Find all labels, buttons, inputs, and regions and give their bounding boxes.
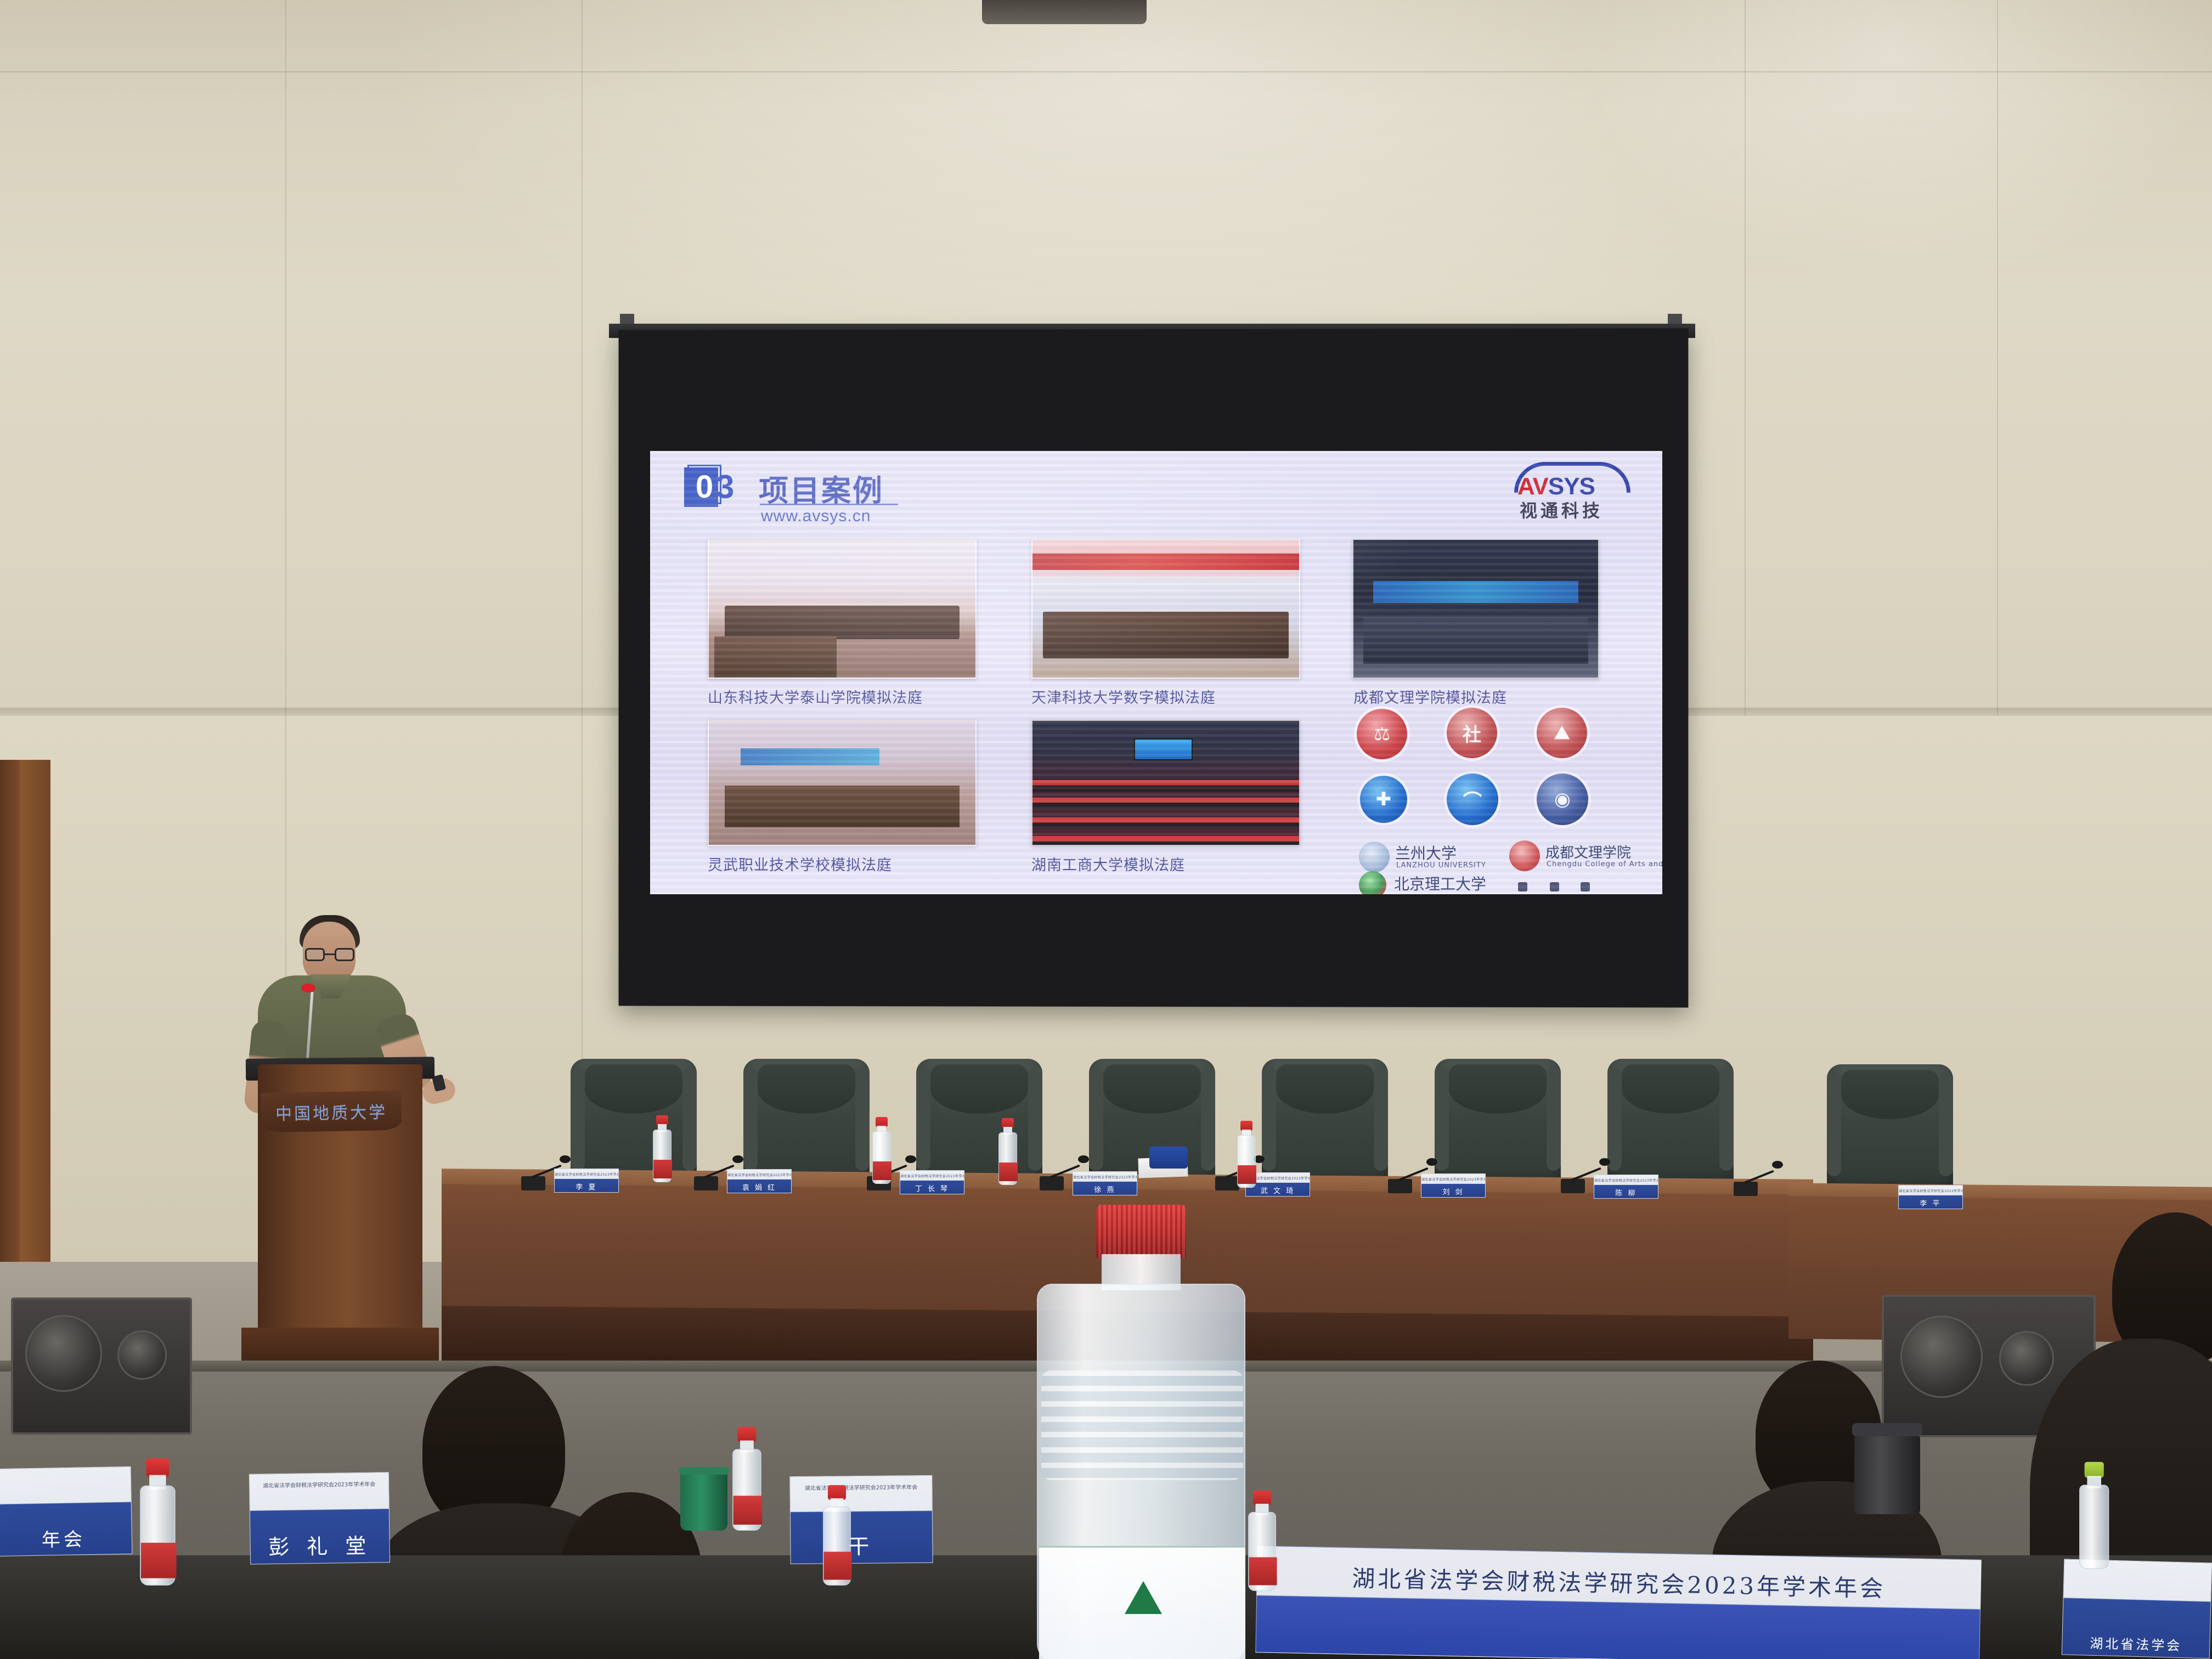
photo-caption-3: 成都文理学院模拟法庭 bbox=[1353, 686, 1507, 707]
photo-caption-2: 天津科技大学数字模拟法庭 bbox=[1031, 686, 1216, 707]
client-logo-bird-wing-icon: ⌒ bbox=[1447, 774, 1498, 825]
podium-microphone-indicator bbox=[301, 984, 315, 992]
photo-caption-5: 湖南工商大学模拟法庭 bbox=[1031, 853, 1185, 874]
foreground-name-placard: 湖北省法学会 bbox=[2062, 1559, 2212, 1658]
photo-caption-1: 山东科技大学泰山学院模拟法庭 bbox=[708, 686, 923, 707]
placard-name: 徐 燕 bbox=[1073, 1184, 1137, 1194]
water-bottle bbox=[872, 1118, 891, 1184]
slide-url: www.avsys.cn bbox=[761, 507, 871, 526]
name-placard: 湖北省法学会财税法学研究会2023年学术年会 李 平 bbox=[1898, 1185, 1963, 1209]
water-bottle bbox=[998, 1119, 1017, 1185]
event-banner: 湖北省法学会财税法学研究会2023年学术年会 bbox=[1255, 1545, 1982, 1659]
logo-glyph: ⌒ bbox=[1447, 774, 1498, 825]
conference-chair bbox=[1435, 1059, 1561, 1190]
placard-subtitle: 湖北省法学会财税法学研究会2023年学术年会 bbox=[250, 1479, 388, 1489]
client-logo-swirl-icon: ◉ bbox=[1537, 774, 1588, 825]
placard-subtitle: 湖北省法学会财税法学研究会2023年学术年会 bbox=[555, 1172, 618, 1177]
name-placard: 湖北省法学会财税法学研究会2023年学术年会 刘 剑 bbox=[1421, 1173, 1486, 1198]
water-bottle bbox=[732, 1361, 775, 1531]
client-logo-chengdu-en: Chengdu College of Arts and Sciences bbox=[1547, 860, 1662, 868]
client-logo-she-icon: 社 bbox=[1447, 708, 1497, 758]
logo-glyph: ⚖ bbox=[1357, 709, 1407, 759]
event-banner-text: 湖北省法学会财税法学研究会2023年学术年会 bbox=[1257, 1558, 1980, 1605]
name-placard: 湖北省法学会财税法学研究会2023年学术年会 徐 燕 bbox=[1073, 1171, 1137, 1195]
avsys-sys-text: SYS bbox=[1548, 473, 1595, 500]
conference-chair bbox=[1827, 1064, 1953, 1196]
pager-dot[interactable] bbox=[1581, 882, 1590, 891]
water-bottle bbox=[140, 1346, 202, 1585]
loudspeaker-driver-icon bbox=[25, 1315, 102, 1392]
logo-glyph: 社 bbox=[1447, 708, 1497, 758]
water-bottle bbox=[2079, 1393, 2129, 1569]
client-logo-bit-seal-icon bbox=[1359, 871, 1386, 894]
projected-slide: 0 3 项目案例 www.avsys.cn AVSYS 视通科技 山东科技大学泰… bbox=[650, 451, 1662, 894]
placard-subtitle: 湖北省法学会财税法学研究会2023年学术年会 bbox=[1421, 1177, 1485, 1182]
avsys-av-text: AV bbox=[1517, 473, 1548, 500]
conference-chair bbox=[1262, 1059, 1388, 1190]
water-bottle bbox=[1237, 1122, 1256, 1188]
placard-name: 彭 礼 堂 bbox=[250, 1528, 390, 1561]
placard-subtitle: 湖北省法学会财税法学研究会2023年学术年会 bbox=[1073, 1175, 1137, 1180]
water-bottle bbox=[1248, 1443, 1289, 1591]
placard-name: 刘 剑 bbox=[1421, 1186, 1485, 1197]
table-microphone bbox=[1734, 1158, 1783, 1196]
bottle-ribs bbox=[1041, 1370, 1243, 1480]
client-logo-lanzhou-cn: 兰州大学 bbox=[1395, 842, 1457, 864]
placard-subtitle: 湖北省法学会财税法学研究会2023年学术年会 bbox=[1594, 1178, 1658, 1183]
green-cup bbox=[680, 1470, 727, 1531]
placard-name: 李 平 bbox=[1899, 1198, 1962, 1208]
placard-name: 陈 柳 bbox=[1594, 1187, 1658, 1198]
photo-moot-court-4 bbox=[708, 720, 977, 846]
client-logo-tower-book-icon: ⛰ bbox=[1537, 708, 1587, 758]
slide-title-underline bbox=[760, 504, 898, 505]
foreground-water-bottle bbox=[1037, 1207, 1245, 1659]
name-placard: 湖北省法学会财税法学研究会2023年学术年会 丁 长 琴 bbox=[900, 1170, 964, 1194]
avsys-wordmark: AVSYS bbox=[1517, 473, 1595, 500]
photo-auditorium-5 bbox=[1031, 720, 1300, 846]
placard-subtitle bbox=[0, 1471, 131, 1474]
loudspeaker-driver-icon bbox=[1900, 1316, 1983, 1398]
placard-name: 丁 长 琴 bbox=[900, 1183, 964, 1193]
pager-dot[interactable] bbox=[1550, 882, 1559, 891]
logo-glyph: ✚ bbox=[1360, 776, 1407, 823]
podium-nameplate-text: 中国地质大学 bbox=[275, 1098, 388, 1125]
pager-dot[interactable] bbox=[1518, 882, 1527, 891]
ceiling-projector-mount bbox=[982, 0, 1147, 24]
client-logo-lanzhou-seal-icon bbox=[1359, 842, 1390, 872]
client-logo-scales-of-justice-icon: ⚖ bbox=[1357, 709, 1407, 759]
bottle-body bbox=[1037, 1284, 1245, 1659]
blue-folder bbox=[1149, 1147, 1188, 1169]
photo-moot-court-2 bbox=[1031, 539, 1300, 679]
water-bottle bbox=[653, 1116, 672, 1182]
logo-glyph: ◉ bbox=[1537, 774, 1588, 825]
name-placard: 湖北省法学会财税法学研究会2023年学术年会 袁 娟 红 bbox=[727, 1169, 792, 1193]
logo-glyph: ⛰ bbox=[1537, 708, 1587, 758]
seat-row bbox=[1032, 836, 1299, 846]
photo-moot-court-1 bbox=[708, 539, 977, 679]
client-logo-globe-cross-icon: ✚ bbox=[1360, 776, 1407, 823]
seat-row bbox=[1032, 798, 1299, 809]
thermos-flask bbox=[1854, 1432, 1920, 1514]
photo-moot-court-3 bbox=[1352, 539, 1599, 679]
placard-name: 年会 bbox=[0, 1523, 132, 1553]
photo-caption-4: 灵武职业技术学校模拟法庭 bbox=[708, 853, 892, 874]
name-placard: 湖北省法学会财税法学研究会2023年学术年会 陈 柳 bbox=[1594, 1175, 1658, 1199]
glasses-icon bbox=[305, 948, 354, 961]
placard-name: 袁 娟 红 bbox=[727, 1182, 791, 1192]
client-logo-lanzhou-en: LANZHOU UNIVERSITY bbox=[1396, 861, 1486, 870]
foreground-name-placard: 年会 bbox=[0, 1466, 132, 1556]
wall-panel-seam bbox=[0, 71, 2212, 72]
placard-name: 李 夏 bbox=[555, 1181, 618, 1192]
avsys-chinese-name: 视通科技 bbox=[1520, 497, 1603, 522]
wood-pillar-inner bbox=[0, 760, 20, 1265]
podium-nameplate: 中国地质大学 bbox=[261, 1091, 402, 1132]
placard-subtitle: 湖北省法学会财税法学研究会2023年学术年会 bbox=[1899, 1188, 1962, 1193]
bottle-cap bbox=[1096, 1205, 1186, 1259]
section-number-badge: 0 3 bbox=[684, 467, 735, 509]
seat-row bbox=[1032, 817, 1299, 828]
bottle-brand-mountain-icon bbox=[1125, 1581, 1162, 1614]
section-number-three: 3 bbox=[716, 469, 734, 506]
conference-chair bbox=[1607, 1059, 1734, 1190]
client-logo-bit-cn: 北京理工大学 bbox=[1394, 872, 1486, 894]
placard-subtitle: 湖北省法学会财税法学研究会2023年学术年会 bbox=[900, 1173, 964, 1178]
avsys-logo: AVSYS 视通科技 bbox=[1510, 461, 1636, 513]
foreground-name-placard: 湖北省法学会财税法学研究会2023年学术年会 彭 礼 堂 bbox=[249, 1472, 390, 1565]
placard-subtitle: 湖北省法学会财税法学研究会2023年学术年会 bbox=[727, 1172, 791, 1177]
client-logo-chengdu-seal-icon bbox=[1509, 840, 1540, 871]
loudspeaker-tweeter-icon bbox=[1999, 1331, 2054, 1386]
placard-name: 湖北省法学会 bbox=[2062, 1632, 2210, 1655]
conference-hall-scene: 0 3 项目案例 www.avsys.cn AVSYS 视通科技 山东科技大学泰… bbox=[0, 0, 2212, 1659]
water-bottle bbox=[823, 1437, 864, 1585]
client-logo-chengdu-cn: 成都文理学院 bbox=[1545, 842, 1631, 862]
auditorium-screen-icon bbox=[1134, 738, 1193, 761]
name-placard: 湖北省法学会财税法学研究会2023年学术年会 李 夏 bbox=[554, 1169, 619, 1193]
seat-row bbox=[1032, 780, 1299, 791]
